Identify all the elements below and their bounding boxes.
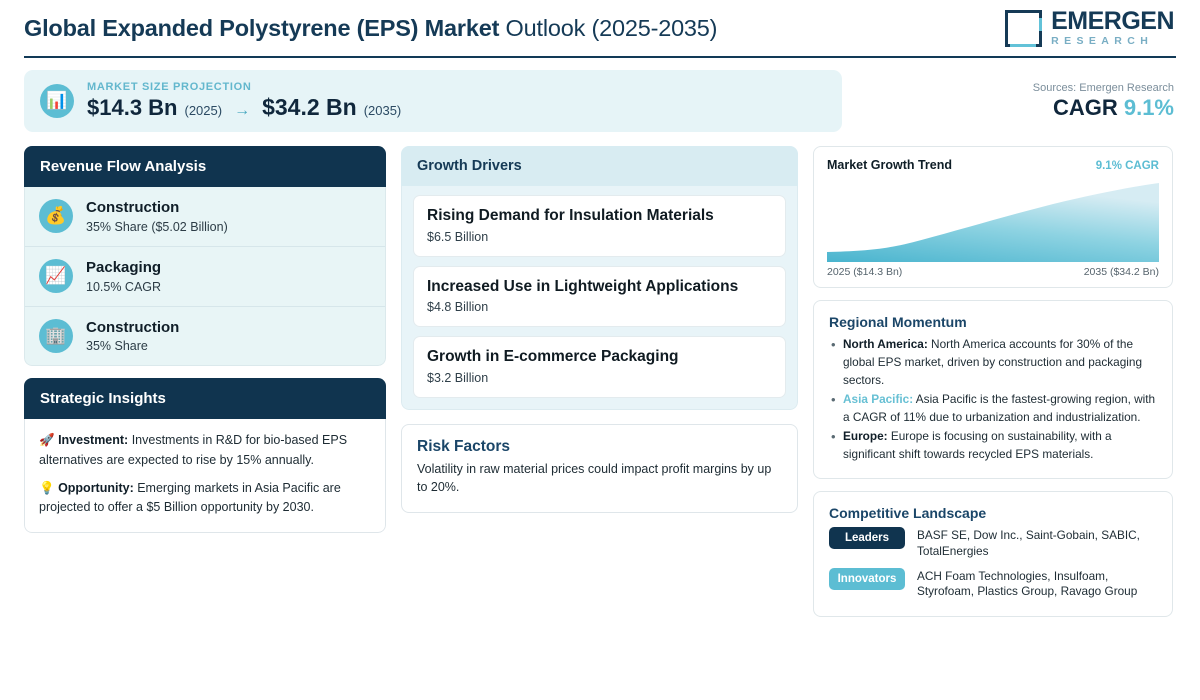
value-2025: $14.3 Bn [87, 95, 178, 121]
region-name: Europe: [843, 429, 888, 443]
market-size-values: $14.3 Bn (2025) → $34.2 Bn (2035) [87, 94, 401, 121]
page-title: Global Expanded Polystyrene (EPS) Market… [24, 15, 717, 42]
trend-heading: Market Growth Trend [827, 158, 952, 172]
status-badge-innovators: Innovators [829, 568, 905, 590]
list-item-text: Construction 35% Share [86, 319, 179, 354]
logo-wordmark: EMERGEN RESEARCH [1051, 9, 1174, 47]
regional-momentum-list: North America: North America accounts fo… [829, 336, 1157, 463]
driver-title: Growth in E-commerce Packaging [427, 348, 772, 367]
driver-value: $6.5 Billion [427, 230, 772, 244]
risk-factors-card: Risk Factors Volatility in raw material … [401, 424, 798, 514]
leaders-companies: BASF SE, Dow Inc., Saint-Gobain, SABIC, … [917, 527, 1157, 559]
page-header: Global Expanded Polystyrene (EPS) Market… [24, 0, 1176, 58]
hero-section: 📊 MARKET SIZE PROJECTION $14.3 Bn (2025)… [24, 70, 1176, 132]
sources-text: Sources: Emergen Research [1033, 82, 1174, 94]
logo-subtitle: RESEARCH [1051, 36, 1174, 47]
strategic-insights-body: 🚀 Investment: Investments in R&D for bio… [24, 419, 386, 533]
list-item-subtitle: 35% Share ($5.02 Billion) [86, 220, 228, 234]
list-item-text: Packaging 10.5% CAGR [86, 259, 161, 294]
driver-title: Rising Demand for Insulation Materials [427, 207, 772, 226]
regional-momentum-card: Regional Momentum North America: North A… [813, 300, 1173, 479]
report-body: Revenue Flow Analysis 💰 Construction 35%… [24, 146, 1176, 617]
competitive-landscape-card: Competitive Landscape Leaders BASF SE, D… [813, 491, 1173, 616]
cagr-value: 9.1% [1124, 95, 1174, 120]
right-column: Market Growth Trend 9.1% CAGR [813, 146, 1173, 617]
competitive-landscape-heading: Competitive Landscape [829, 505, 1157, 521]
market-growth-trend-card: Market Growth Trend 9.1% CAGR [813, 146, 1173, 288]
strategic-insights-panel: Strategic Insights 🚀 Investment: Investm… [24, 378, 386, 533]
revenue-flow-list: 💰 Construction 35% Share ($5.02 Billion)… [24, 187, 386, 366]
revenue-flow-heading: Revenue Flow Analysis [24, 146, 386, 187]
strategic-insights-heading: Strategic Insights [24, 378, 386, 419]
axis-label-start: 2025 ($14.3 Bn) [827, 266, 902, 278]
insight-label: Opportunity: [58, 481, 134, 495]
list-item-title: Packaging [86, 259, 161, 278]
list-item: Asia Pacific: Asia Pacific is the fastes… [829, 391, 1157, 427]
cagr-summary: Sources: Emergen Research CAGR 9.1% [1033, 82, 1176, 121]
brand-logo: EMERGEN RESEARCH [1005, 9, 1176, 47]
market-size-label: MARKET SIZE PROJECTION [87, 81, 401, 93]
growth-drivers-panel: Growth Drivers Rising Demand for Insulat… [401, 146, 798, 410]
region-name: Asia Pacific: [843, 392, 913, 406]
list-item[interactable]: Growth in E-commerce Packaging $3.2 Bill… [413, 336, 786, 398]
table-row: Leaders BASF SE, Dow Inc., Saint-Gobain,… [829, 527, 1157, 559]
area-series [827, 183, 1159, 262]
lightbulb-icon: 💡 [39, 481, 55, 495]
arrow-right-icon: → [229, 102, 255, 120]
list-item: North America: North America accounts fo… [829, 336, 1157, 390]
trend-cagr-badge: 9.1% CAGR [1096, 160, 1159, 172]
list-item[interactable]: 💰 Construction 35% Share ($5.02 Billion) [25, 187, 385, 247]
area-chart [827, 180, 1159, 262]
status-badge-leaders: Leaders [829, 527, 905, 549]
region-name: North America: [843, 337, 928, 351]
driver-value: $3.2 Billion [427, 371, 772, 385]
risk-factors-text: Volatility in raw material prices could … [417, 461, 782, 497]
trend-header: Market Growth Trend 9.1% CAGR [827, 158, 1159, 172]
list-item-text: Construction 35% Share ($5.02 Billion) [86, 199, 228, 234]
list-item-subtitle: 35% Share [86, 339, 179, 353]
office-building-icon: 🏢 [39, 319, 73, 353]
middle-column: Growth Drivers Rising Demand for Insulat… [401, 146, 798, 513]
trend-axis-labels: 2025 ($14.3 Bn) 2035 ($34.2 Bn) [827, 266, 1159, 278]
logo-square-icon [1005, 10, 1042, 47]
risk-factors-heading: Risk Factors [417, 438, 782, 456]
value-2035: $34.2 Bn [262, 94, 357, 121]
chart-increasing-icon: 📈 [39, 259, 73, 293]
list-item-title: Construction [86, 199, 228, 218]
list-item-subtitle: 10.5% CAGR [86, 280, 161, 294]
list-item-title: Construction [86, 319, 179, 338]
year-2035: (2035) [364, 103, 402, 118]
list-item[interactable]: Increased Use in Lightweight Application… [413, 266, 786, 328]
left-column: Revenue Flow Analysis 💰 Construction 35%… [24, 146, 386, 533]
driver-value: $4.8 Billion [427, 300, 772, 314]
list-item: Europe: Europe is focusing on sustainabi… [829, 428, 1157, 464]
page-title-light: Outlook (2025-2035) [506, 15, 718, 41]
market-size-projection-text: MARKET SIZE PROJECTION $14.3 Bn (2025) →… [87, 81, 401, 121]
driver-title: Increased Use in Lightweight Application… [427, 278, 772, 297]
insight-label: Investment: [58, 433, 128, 447]
market-size-projection-band: 📊 MARKET SIZE PROJECTION $14.3 Bn (2025)… [24, 70, 842, 132]
report-page: Global Expanded Polystyrene (EPS) Market… [0, 0, 1200, 700]
page-title-strong: Global Expanded Polystyrene (EPS) Market [24, 15, 499, 41]
innovators-companies: ACH Foam Technologies, Insulfoam, Styrof… [917, 568, 1157, 600]
list-item[interactable]: Rising Demand for Insulation Materials $… [413, 195, 786, 257]
growth-drivers-heading: Growth Drivers [401, 146, 798, 186]
cagr-label: CAGR [1053, 95, 1118, 120]
year-2025: (2025) [185, 103, 223, 118]
axis-label-end: 2035 ($34.2 Bn) [1084, 266, 1159, 278]
bar-chart-icon: 📊 [40, 84, 74, 118]
logo-name: EMERGEN [1051, 9, 1174, 34]
money-bag-icon: 💰 [39, 199, 73, 233]
area-chart-svg [827, 180, 1159, 262]
insight-opportunity: 💡 Opportunity: Emerging markets in Asia … [39, 479, 371, 518]
cagr-headline: CAGR 9.1% [1033, 95, 1174, 121]
table-row: Innovators ACH Foam Technologies, Insulf… [829, 568, 1157, 600]
insight-investment: 🚀 Investment: Investments in R&D for bio… [39, 431, 371, 470]
rocket-icon: 🚀 [39, 433, 55, 447]
growth-drivers-list: Rising Demand for Insulation Materials $… [401, 186, 798, 410]
regional-momentum-heading: Regional Momentum [829, 314, 1157, 330]
list-item[interactable]: 🏢 Construction 35% Share [25, 307, 385, 366]
list-item[interactable]: 📈 Packaging 10.5% CAGR [25, 247, 385, 307]
revenue-flow-panel: Revenue Flow Analysis 💰 Construction 35%… [24, 146, 386, 366]
